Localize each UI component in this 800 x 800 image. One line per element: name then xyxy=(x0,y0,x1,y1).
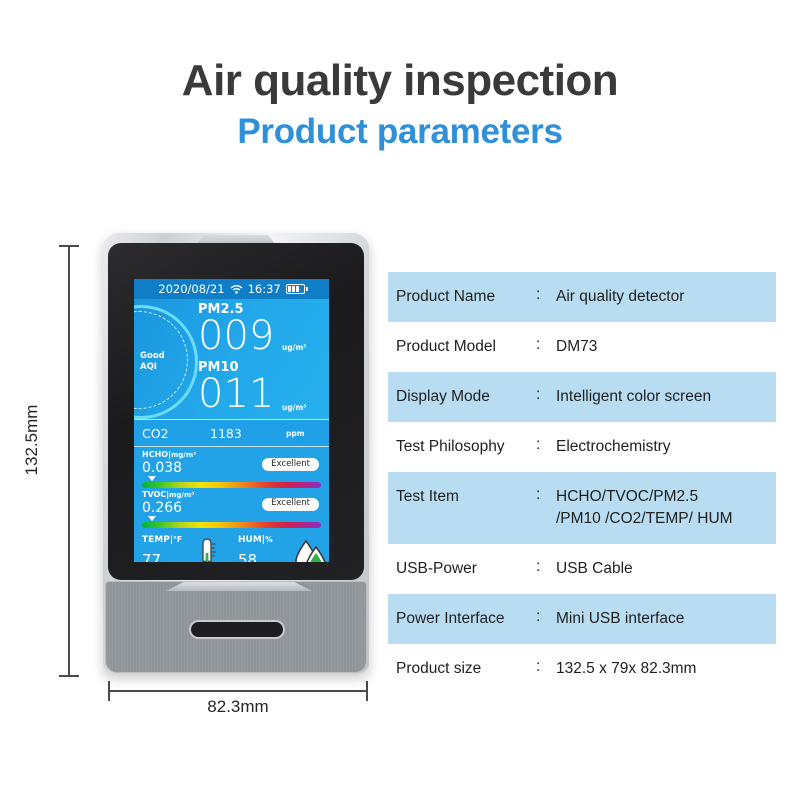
height-dimension-cap-bottom xyxy=(59,675,79,677)
hcho-gradient-bar xyxy=(142,482,321,488)
spec-value: Mini USB interface xyxy=(552,594,776,642)
hum-unit: % xyxy=(265,535,273,544)
temp-reading: TEMP|°F 77 xyxy=(142,535,182,562)
spec-row: Test Item:HCHO/TVOC/PM2.5/PM10 /CO2/TEMP… xyxy=(388,472,776,544)
spec-row: Power Interface:Mini USB interface xyxy=(388,594,776,644)
water-drop-icon xyxy=(294,539,328,562)
aqi-label: Good AQI xyxy=(140,351,165,372)
temp-header: TEMP|°F xyxy=(142,535,182,545)
spec-colon: : xyxy=(536,644,552,676)
temp-value: 77 xyxy=(142,551,182,562)
hum-reading: HUM|% 58 xyxy=(238,535,273,562)
spec-colon: : xyxy=(536,544,552,576)
spec-colon: : xyxy=(536,372,552,404)
device-base xyxy=(105,581,367,673)
spec-label: Power Interface xyxy=(388,594,536,630)
spec-colon: : xyxy=(536,272,552,304)
spec-row: Product Name:Air quality detector xyxy=(388,272,776,322)
screen-pm-region: Good AQI PM2.5 009 ug/m³ PM10 011 ug/m³ xyxy=(134,299,329,419)
spec-value: HCHO/TVOC/PM2.5/PM10 /CO2/TEMP/ HUM xyxy=(552,472,776,543)
spec-row: Test Philosophy:Electrochemistry xyxy=(388,422,776,472)
device-lcd-screen: 2020/08/21 16:37 Good xyxy=(134,279,329,562)
hum-value: 58 xyxy=(238,551,273,562)
spec-value-line1: HCHO/TVOC/PM2.5 xyxy=(556,486,770,508)
hum-header: HUM|% xyxy=(238,535,273,545)
co2-value: 1183 xyxy=(210,426,242,441)
screen-status-bar: 2020/08/21 16:37 xyxy=(134,279,329,299)
height-dimension-line xyxy=(68,245,70,677)
spec-value: DM73 xyxy=(552,322,776,370)
device-sensor-vent xyxy=(189,620,285,639)
air-quality-detector-device: 2020/08/21 16:37 Good xyxy=(103,233,373,683)
spec-colon: : xyxy=(536,322,552,354)
pm25-reading: PM2.5 009 xyxy=(198,303,274,355)
spec-value: 132.5 x 79x 82.3mm xyxy=(552,644,776,692)
battery-icon xyxy=(286,284,305,294)
spec-colon: : xyxy=(536,472,552,504)
spec-label: Product Name xyxy=(388,272,536,308)
spec-row: USB-Power:USB Cable xyxy=(388,544,776,594)
pm10-reading: PM10 011 xyxy=(198,361,274,413)
tvoc-reading: TVOC|mg/m³ 0.266 Excellent xyxy=(142,491,321,528)
tvoc-unit: mg/m³ xyxy=(169,491,194,499)
spec-label: Test Philosophy xyxy=(388,422,536,458)
pm10-unit: ug/m³ xyxy=(282,403,307,412)
co2-label: CO2 xyxy=(142,426,169,441)
tvoc-gradient-bar xyxy=(142,522,321,528)
page-subtitle: Product parameters xyxy=(0,114,800,151)
co2-unit: ppm xyxy=(286,429,305,438)
spec-label: Test Item xyxy=(388,472,536,508)
hcho-reading: HCHO|mg/m³ 0.038 Excellent xyxy=(142,451,321,488)
pm10-value: 011 xyxy=(198,375,274,413)
status-time: 16:37 xyxy=(248,282,281,296)
spec-row: Product size:132.5 x 79x 82.3mm xyxy=(388,644,776,694)
tvoc-bar-marker xyxy=(148,516,156,521)
spec-row: Product Model:DM73 xyxy=(388,322,776,372)
hcho-status-badge: Excellent xyxy=(262,458,319,471)
aqi-title: AQI xyxy=(140,362,165,373)
page-title: Air quality inspection xyxy=(0,58,800,104)
temp-unit: °F xyxy=(173,535,182,544)
device-base-notch xyxy=(166,582,312,591)
height-dimension-cap-top xyxy=(59,245,79,247)
hum-label: HUM xyxy=(238,535,262,545)
spec-value: Electrochemistry xyxy=(552,422,776,470)
spec-colon: : xyxy=(536,594,552,626)
status-date: 2020/08/21 xyxy=(158,282,224,296)
spec-colon: : xyxy=(536,422,552,454)
wifi-icon xyxy=(230,284,243,294)
hcho-unit: mg/m³ xyxy=(171,451,196,459)
device-illustration: 132.5mm 82.3mm 2020/08/21 16:37 xyxy=(0,225,380,735)
tvoc-status-badge: Excellent xyxy=(262,498,319,511)
spec-value: Intelligent color screen xyxy=(552,372,776,420)
spec-value-line2: /PM10 /CO2/TEMP/ HUM xyxy=(556,508,770,530)
co2-reading-row: CO2 1183 ppm xyxy=(134,419,329,447)
spec-value: Air quality detector xyxy=(552,272,776,320)
pm25-unit: ug/m³ xyxy=(282,343,307,352)
spec-row: Display Mode:Intelligent color screen xyxy=(388,372,776,422)
thermometer-icon xyxy=(192,537,222,562)
width-dimension-label: 82.3mm xyxy=(108,697,368,717)
hcho-label: HCHO xyxy=(142,450,168,459)
temp-label: TEMP xyxy=(142,535,170,545)
tvoc-label: TVOC xyxy=(142,490,166,499)
hcho-bar-marker xyxy=(148,476,156,481)
screen-temp-hum-region: TEMP|°F 77 xyxy=(134,531,329,562)
spec-label: Display Mode xyxy=(388,372,536,408)
spec-label: USB-Power xyxy=(388,544,536,580)
spec-value: USB Cable xyxy=(552,544,776,592)
screen-gas-region: HCHO|mg/m³ 0.038 Excellent TVOC|mg/m³ 0.… xyxy=(134,447,329,528)
spec-label: Product size xyxy=(388,644,536,680)
page-headings: Air quality inspection Product parameter… xyxy=(0,58,800,151)
pm25-value: 009 xyxy=(198,317,274,355)
aqi-status: Good xyxy=(140,351,165,362)
product-parameters-table: Product Name:Air quality detectorProduct… xyxy=(388,272,776,694)
spec-label: Product Model xyxy=(388,322,536,358)
width-dimension-line xyxy=(108,690,368,692)
height-dimension-label: 132.5mm xyxy=(22,385,42,495)
